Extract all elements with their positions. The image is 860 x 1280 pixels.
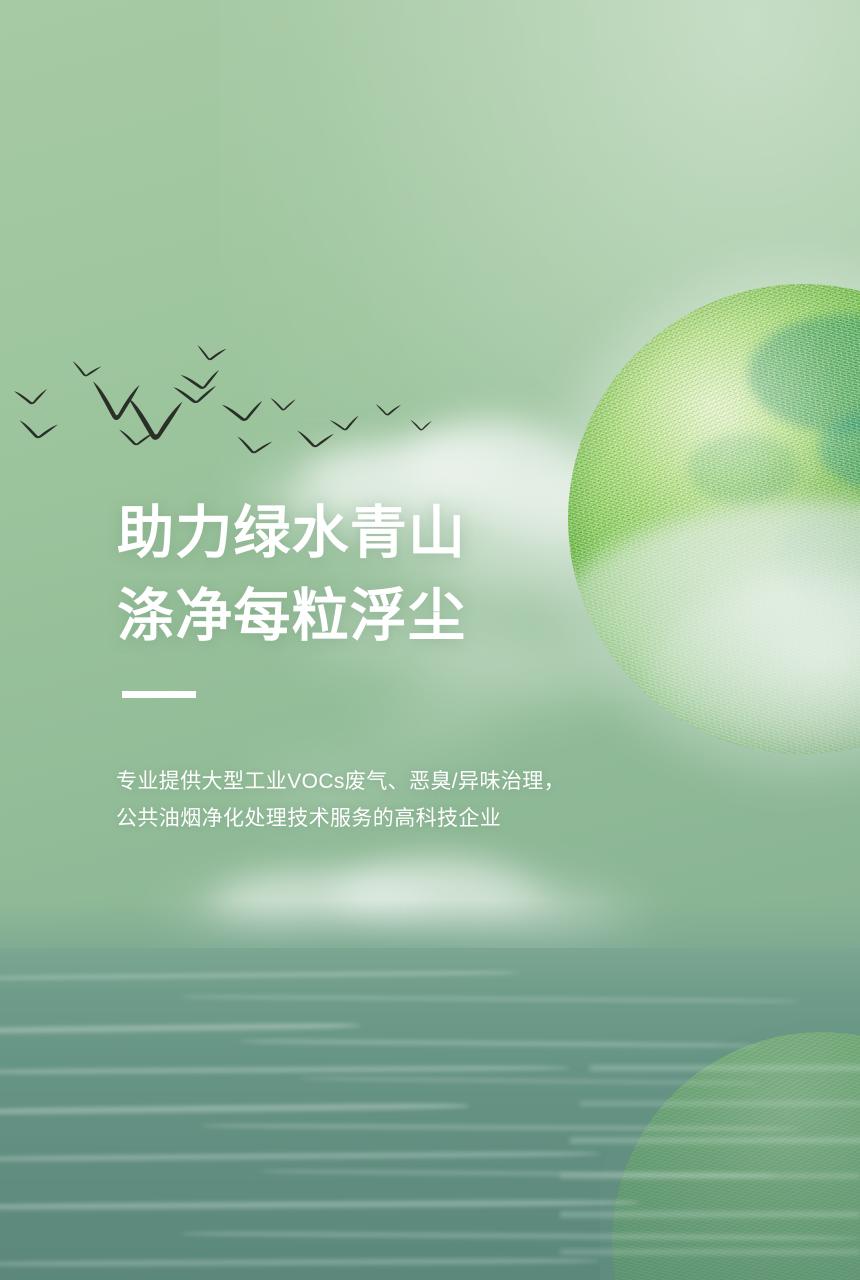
water-wave-highlight: [300, 1076, 760, 1087]
water-wave-highlight: [180, 1230, 860, 1243]
water-wave-highlight: [180, 994, 800, 1004]
water-wave-highlight: [0, 1064, 570, 1076]
water-wave-highlight: [200, 1122, 800, 1132]
water-wave-highlight: [0, 969, 520, 982]
water-wave-highlight: [240, 1038, 760, 1050]
water-wave-highlight: [0, 1101, 470, 1117]
water-wave-highlight: [0, 1021, 360, 1036]
banner-root: 助力绿水青山 涤净每粒浮尘 专业提供大型工业VOCs废气、恶臭/异味治理， 公共…: [0, 0, 860, 1280]
wave-highlight-group: [0, 900, 860, 1280]
water-wave-highlight: [260, 1168, 780, 1180]
water-wave-highlight: [0, 1256, 600, 1268]
water-wave-highlight: [0, 1149, 600, 1164]
water-wave-highlight: [0, 1198, 640, 1213]
